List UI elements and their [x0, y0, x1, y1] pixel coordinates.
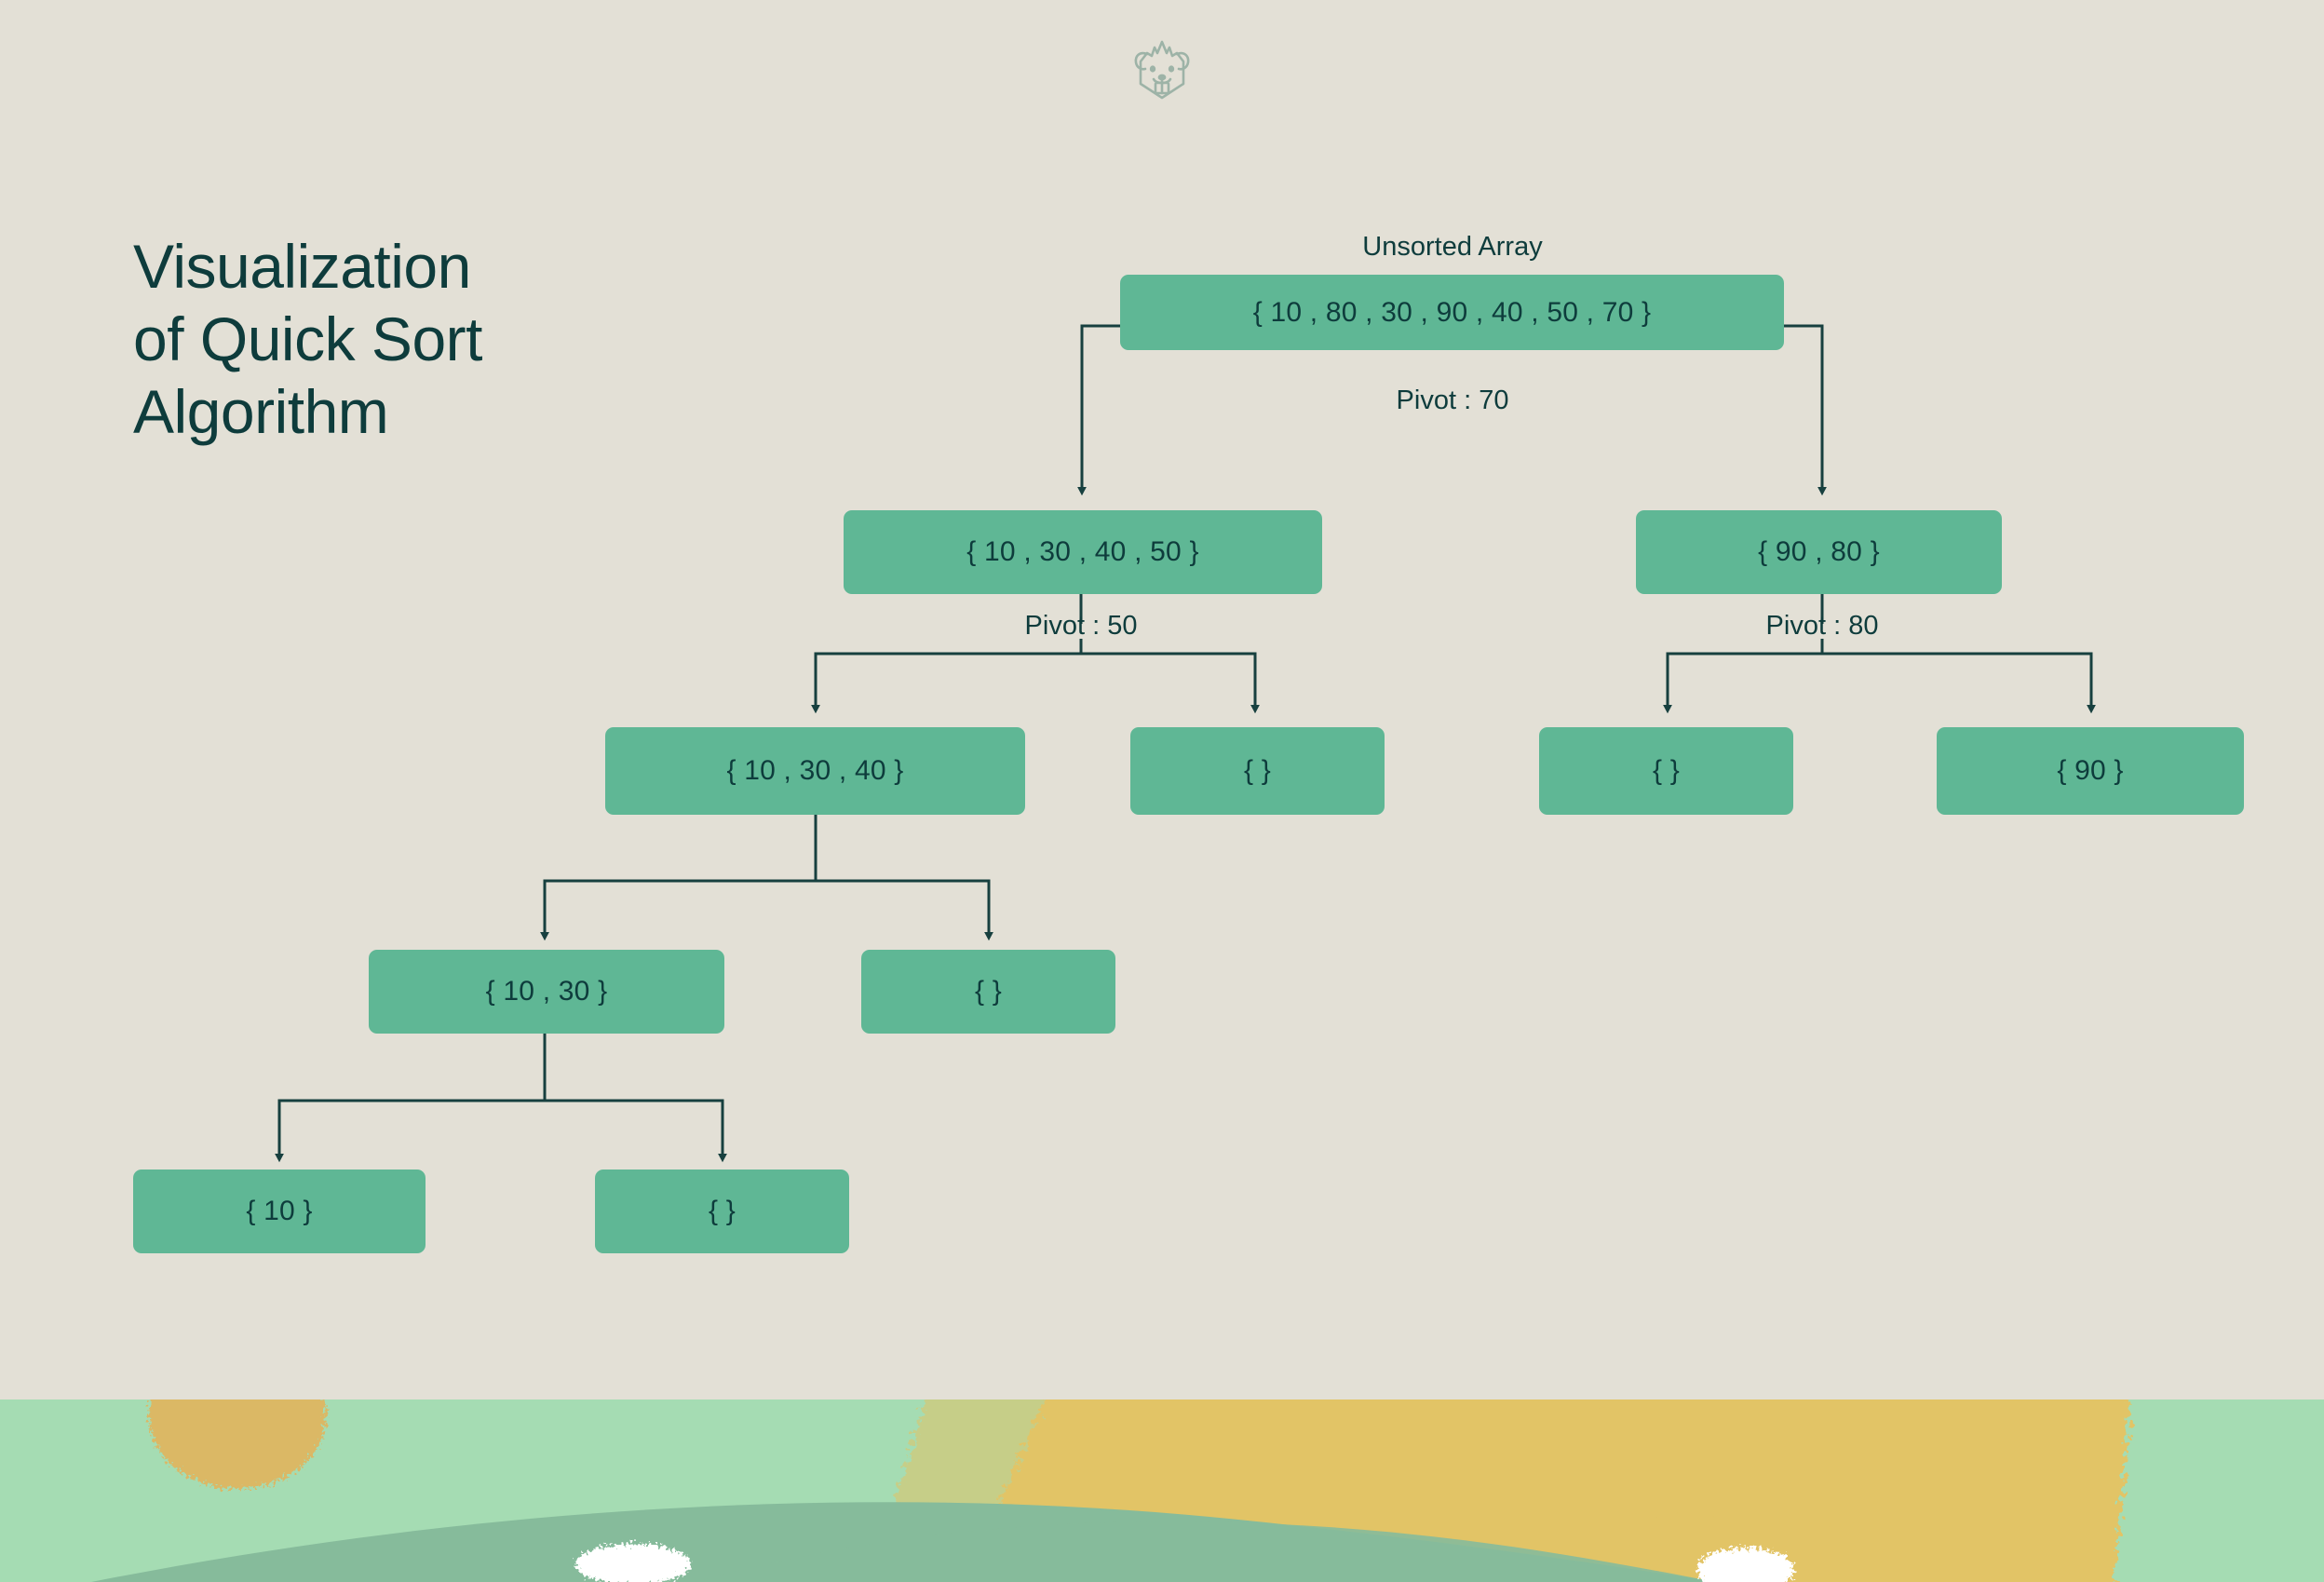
root-caption: Unsorted Array — [1362, 232, 1542, 263]
pivot-label-root: Pivot : 70 — [1397, 385, 1509, 416]
tree-node-left-3-empty[interactable]: { } — [861, 950, 1115, 1034]
tree-node-left-4-empty[interactable]: { } — [595, 1170, 849, 1253]
decorative-landscape — [0, 1399, 2324, 1582]
pivot-label-left-1: Pivot : 50 — [1025, 611, 1138, 642]
tree-node-left-2-empty[interactable]: { } — [1130, 727, 1385, 815]
quick-sort-tree-diagram: Unsorted Array { 10 , 80 , 30 , 90 , 40 … — [0, 0, 2324, 1399]
pivot-label-right-1: Pivot : 80 — [1766, 611, 1879, 642]
tree-node-right-2-empty[interactable]: { } — [1539, 727, 1793, 815]
tree-node-root[interactable]: { 10 , 80 , 30 , 90 , 40 , 50 , 70 } — [1120, 275, 1784, 350]
tree-node-left-4[interactable]: { 10 } — [133, 1170, 426, 1253]
tree-node-left-3[interactable]: { 10 , 30 } — [369, 950, 724, 1034]
tree-node-left-2[interactable]: { 10 , 30 , 40 } — [605, 727, 1025, 815]
tree-node-right-1[interactable]: { 90 , 80 } — [1636, 510, 2002, 594]
slide-canvas: Visualization of Quick Sort Algorithm — [0, 0, 2324, 1582]
tree-node-right-2[interactable]: { 90 } — [1937, 727, 2244, 815]
tree-node-left-1[interactable]: { 10 , 30 , 40 , 50 } — [844, 510, 1322, 594]
